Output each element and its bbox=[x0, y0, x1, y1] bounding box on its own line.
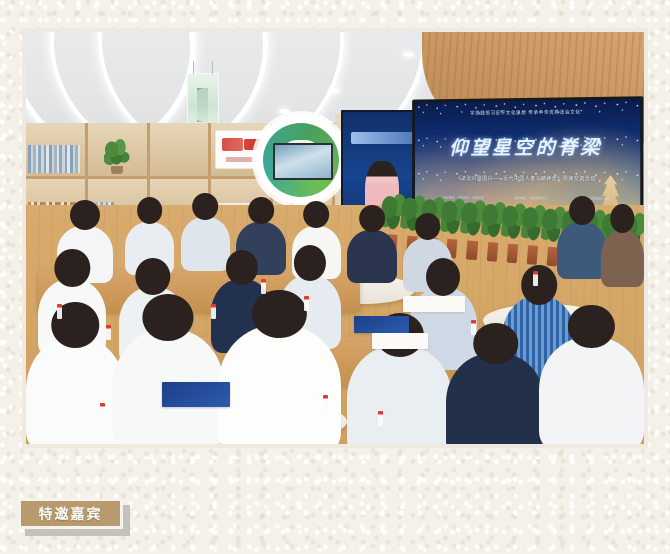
attendee bbox=[557, 222, 606, 280]
attendee bbox=[347, 230, 396, 284]
attendee-foreground bbox=[446, 353, 545, 444]
caption-inner-fill: 特邀嘉宾 bbox=[21, 501, 120, 526]
attendee-head bbox=[359, 205, 385, 232]
attendee-foreground bbox=[347, 345, 452, 444]
attendee-head bbox=[521, 265, 557, 305]
water-bottle bbox=[261, 279, 266, 294]
attendee-head bbox=[70, 200, 100, 230]
study-sign-subtext bbox=[226, 157, 257, 162]
shelf-cell bbox=[26, 123, 88, 180]
event-photo: 学思践悟习近平文化思想 传承中华优秀法治文化 仰望星空的脊梁 《法治兴则国兴——… bbox=[26, 32, 644, 444]
books bbox=[28, 145, 80, 173]
wall-monitor bbox=[273, 143, 333, 180]
attendee-head bbox=[415, 213, 441, 240]
caption-label: 特邀嘉宾 bbox=[39, 504, 103, 524]
screen-calligraphy-title: 仰望星空的脊梁 bbox=[415, 132, 640, 160]
attendee bbox=[181, 217, 230, 271]
attendee-head bbox=[248, 197, 274, 224]
document-folder bbox=[354, 316, 410, 332]
caption-outer-border: 特邀嘉宾 bbox=[18, 498, 123, 529]
water-bottle bbox=[211, 304, 216, 319]
banner-leaf-motif bbox=[197, 88, 208, 122]
water-bottle bbox=[533, 271, 538, 286]
water-bottle bbox=[57, 304, 62, 319]
attendee-head bbox=[426, 258, 460, 296]
water-bottle bbox=[378, 411, 383, 426]
attendee-head bbox=[611, 204, 634, 233]
attendee-foreground bbox=[539, 337, 644, 444]
plant-pot bbox=[111, 166, 123, 175]
attendee-head bbox=[569, 196, 595, 225]
water-bottle bbox=[323, 395, 328, 410]
downlight bbox=[279, 109, 290, 114]
attendee-head bbox=[252, 290, 306, 337]
photo-frame: 学思践悟习近平文化思想 传承中华优秀法治文化 仰望星空的脊梁 《法治兴则国兴——… bbox=[22, 28, 648, 448]
document-folder bbox=[162, 382, 230, 407]
downlight bbox=[403, 52, 414, 57]
handout-paper bbox=[403, 296, 465, 312]
attendee bbox=[601, 230, 644, 288]
downlight bbox=[329, 88, 340, 93]
shelf-cell bbox=[88, 123, 150, 180]
attendee-head bbox=[55, 249, 90, 287]
handout-paper bbox=[372, 333, 428, 349]
attendee-head bbox=[568, 305, 614, 349]
attendee-head bbox=[473, 323, 518, 364]
attendee-head bbox=[304, 201, 330, 228]
attendee-head bbox=[294, 245, 326, 281]
water-bottle bbox=[471, 320, 476, 335]
attendee-head bbox=[143, 294, 194, 341]
attendee-head bbox=[135, 258, 170, 296]
article-page: 学思践悟习近平文化思想 传承中华优秀法治文化 仰望星空的脊梁 《法治兴则国兴——… bbox=[0, 0, 670, 554]
circular-wall-display bbox=[255, 114, 348, 205]
attendee-foreground bbox=[26, 337, 125, 444]
screen-subtitle: 《法治兴则国兴——近代中国人奋斗精神史》导读交流活动 bbox=[415, 175, 640, 183]
attendee-head bbox=[226, 250, 258, 286]
plant-pot bbox=[487, 242, 499, 261]
caption-banner: 特邀嘉宾 bbox=[18, 498, 130, 536]
water-bottle bbox=[304, 296, 309, 311]
shelf-cell bbox=[150, 123, 212, 180]
plant-pot bbox=[527, 245, 539, 264]
attendee-foreground bbox=[218, 325, 342, 444]
screen-fine-print-item: 承办单位：普法宣传中心 bbox=[515, 196, 548, 200]
water-bottle bbox=[106, 325, 111, 340]
study-sign-mark bbox=[222, 138, 243, 150]
poster-title-bar bbox=[351, 132, 413, 144]
plant-pot bbox=[467, 241, 479, 260]
plant-pot bbox=[507, 244, 519, 263]
water-bottle bbox=[100, 403, 105, 418]
attendee-head bbox=[137, 197, 163, 224]
attendee-head bbox=[192, 193, 218, 220]
